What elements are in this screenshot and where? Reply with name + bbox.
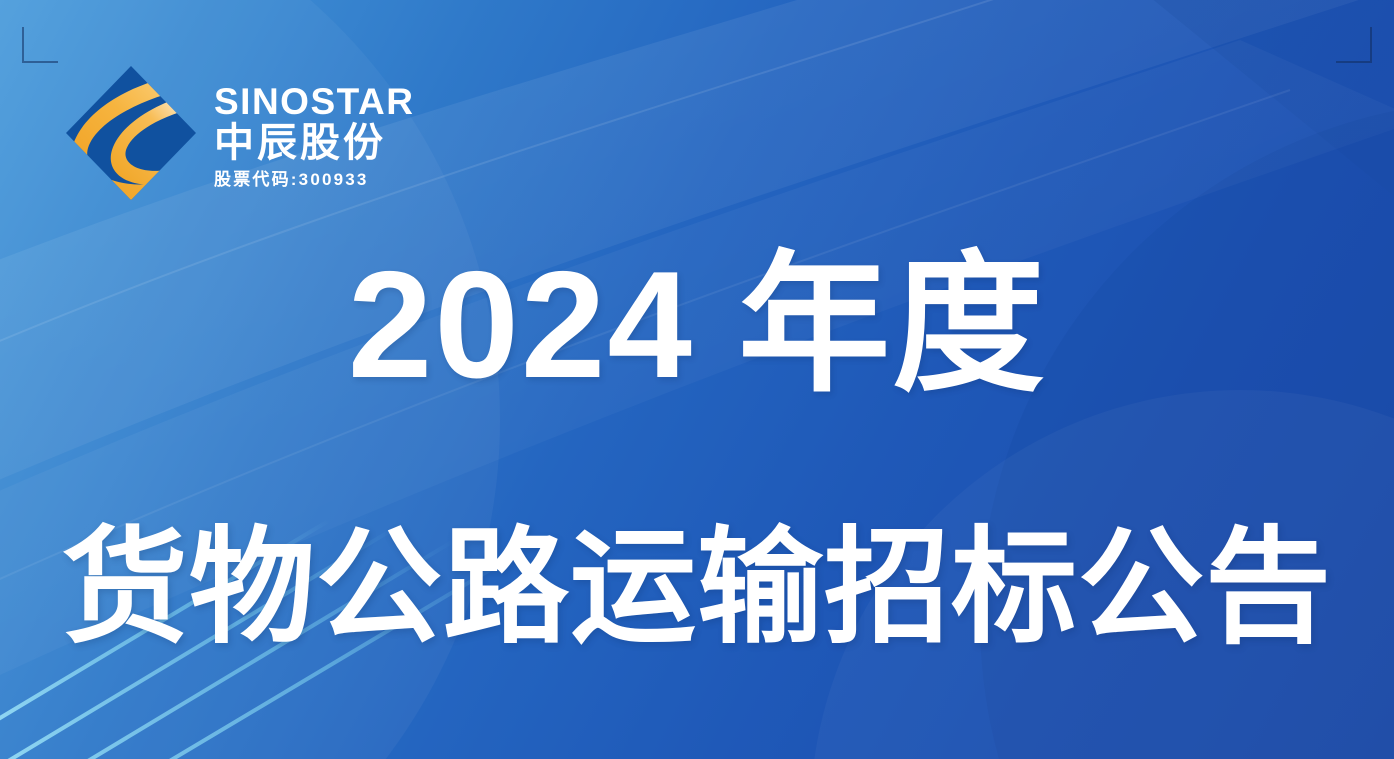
brand-name-en: SINOSTAR <box>214 83 414 120</box>
logo-lockup: SINOSTAR 中辰股份 股票代码:300933 <box>62 62 414 204</box>
headline-year: 2024 年度 <box>0 243 1394 407</box>
brand-name-cn: 中辰股份 <box>214 121 414 166</box>
logo-text-block: SINOSTAR 中辰股份 股票代码:300933 <box>214 73 414 192</box>
crop-mark-icon-top-right <box>1336 27 1372 63</box>
sinostar-diamond-logo-icon <box>62 62 200 204</box>
crop-mark-icon-top-left <box>22 27 58 63</box>
stock-code-label: 股票代码:300933 <box>214 167 414 193</box>
poster-canvas: SINOSTAR 中辰股份 股票代码:300933 2024 年度 货物公路运输… <box>0 0 1394 759</box>
headline-title: 货物公路运输招标公告 <box>0 516 1394 661</box>
